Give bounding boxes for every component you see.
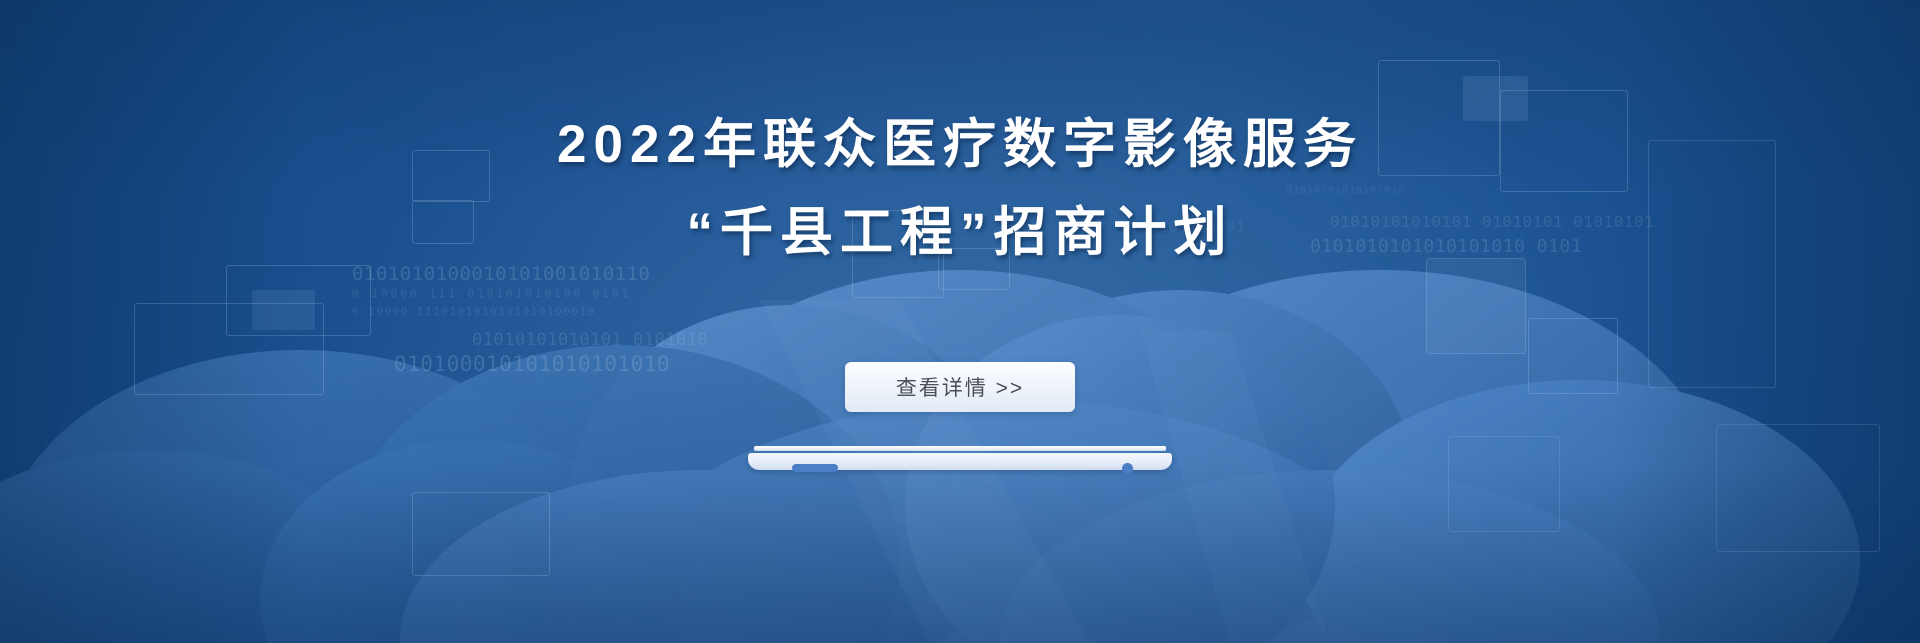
laptop-touch-indicator (792, 464, 838, 472)
laptop-status-dot (1122, 463, 1133, 474)
decor-rectangle-filled (252, 290, 315, 330)
decor-rectangle-outline (1528, 318, 1618, 394)
decor-rectangle-outline (1716, 424, 1880, 552)
headline-line-2: “千县工程”招商计划 (0, 206, 1920, 259)
decor-rectangle-filled (1426, 258, 1526, 354)
laptop-screen-edge (754, 446, 1166, 451)
laptop-deck (748, 453, 1172, 470)
decor-rectangle-outline (412, 492, 550, 576)
laptop-illustration (748, 446, 1172, 476)
decor-rectangle-outline (1648, 140, 1776, 388)
view-details-label: 查看详情 >> (896, 372, 1024, 402)
promo-banner: 0101010100010101001010110 0 10000 111 01… (0, 0, 1920, 643)
view-details-button[interactable]: 查看详情 >> (845, 362, 1075, 412)
decor-rectangle-outline (1448, 436, 1560, 532)
headline-line-1: 2022年联众医疗数字影像服务 (0, 118, 1920, 171)
